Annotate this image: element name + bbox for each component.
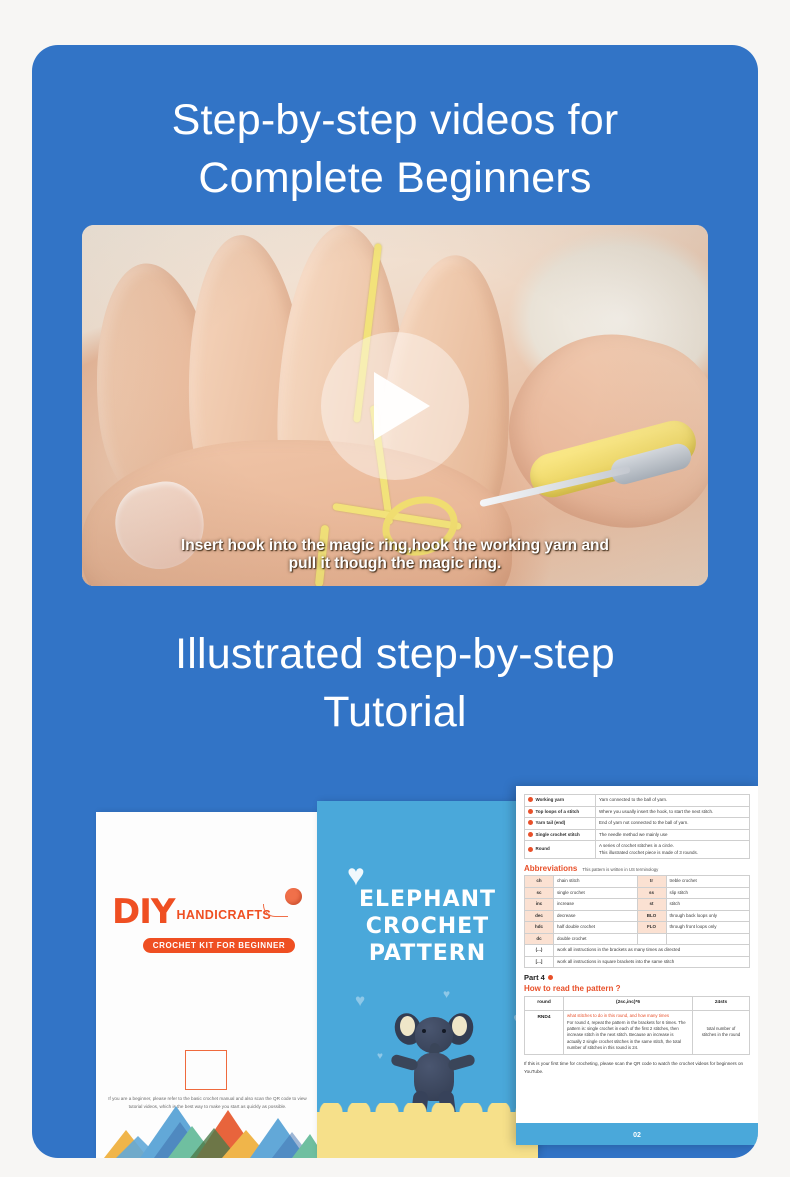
elephant-ear-inner [452,1016,467,1036]
table-row: Round A series of crochet stitches in a … [525,841,750,859]
headline-primary: Step-by-step videos for Complete Beginne… [32,91,758,207]
part-label-row: Part 4 [524,973,750,982]
bullet-dot-icon [528,832,533,837]
pattern-cover-title: ELEPHANT CROCHET PATTERN [317,887,538,967]
elephant-eye [442,1029,446,1033]
booklet-left-page: DIYHANDICRAFTS CROCHET KIT FOR BEGINNER … [96,812,319,1158]
table-row: ch chain stitch tr treble crochet [525,876,750,888]
table-row: (...) work all instructions in the brack… [525,945,750,957]
table-row: Yarn tail (end) End of yarn not connecte… [525,818,750,830]
pattern-example-table: round (2sc,inc)*6 24sts RND4 what stitch… [524,996,750,1055]
play-button-icon[interactable] [321,332,469,480]
bullet-dot-icon [528,820,533,825]
bullet-dot-icon [528,809,533,814]
table-row: Top loops of a stitch Where you usually … [525,806,750,818]
table-row: dec decrease BLO through back loops only [525,910,750,922]
promo-page: Step-by-step videos for Complete Beginne… [0,0,790,1177]
promo-card: Step-by-step videos for Complete Beginne… [32,45,758,1158]
elephant-arm [390,1053,419,1071]
video-player[interactable]: Insert hook into the magic ring,hook the… [82,225,708,586]
triangle-pattern-svg [96,1096,319,1158]
sand-wave-band [317,1112,538,1158]
brand-subtitle: HANDICRAFTS [177,908,272,922]
pattern-explanation-cell: what stitches to do in this round, and h… [564,1011,693,1055]
table-row: Single crochet stitch The needle method … [525,829,750,841]
booklet-photo: DIYHANDICRAFTS CROCHET KIT FOR BEGINNER … [64,773,758,1158]
heart-icon: ♥ [355,991,365,1011]
elephant-arm [447,1053,476,1071]
diy-logo: DIYHANDICRAFTS CROCHET KIT FOR BEGINNER [112,892,304,953]
table-row: RND4 what stitches to do in this round, … [525,1011,750,1055]
play-triangle-icon [374,372,430,440]
how-to-read-title: How to read the pattern ? [524,984,750,993]
table-row: inc increase st stitch [525,899,750,911]
table-row: sc single crochet ss slip stitch [525,887,750,899]
kit-badge: CROCHET KIT FOR BEGINNER [143,938,296,953]
pattern-body-text: For round 4, repeat the pattern in the b… [567,1020,689,1052]
bullet-dot-icon [528,847,533,852]
triangle-pattern-band [96,1096,319,1158]
part-label: Part 4 [524,973,545,982]
abbreviations-table: ch chain stitch tr treble crochet sc sin… [524,875,750,968]
headline-secondary: Illustrated step-by-step Tutorial [32,625,758,741]
page-number: 02 [516,1132,758,1139]
bullet-dot-icon [528,797,533,802]
elephant-eye [422,1029,426,1033]
footer-note: If this is your first time for crochetin… [524,1060,750,1076]
abbreviations-title: Abbreviations [524,864,577,873]
booklet-middle-page: ♥ ELEPHANT CROCHET PATTERN ♥ ♥ ♥ ♥ [317,801,538,1158]
bullet-dot-icon [548,975,553,980]
yarn-ball-icon [285,888,302,905]
abbreviations-note: This pattern is written in US terminolog… [582,867,658,872]
table-row: [...] work all instructions in square br… [525,956,750,968]
brand-name: DIY [112,892,175,932]
terms-table: Working yarn Yarn connected to the ball … [524,794,750,859]
video-caption: Insert hook into the magic ring,hook the… [82,537,708,572]
table-row: dc double crochet [525,933,750,945]
table-row: Working yarn Yarn connected to the ball … [525,795,750,807]
table-row: hdc half double crochet FLO through fron… [525,922,750,934]
heart-icon: ♥ [443,987,450,1001]
abbreviations-header: Abbreviations This pattern is written in… [524,864,750,873]
booklet-right-page: Working yarn Yarn connected to the ball … [516,786,758,1145]
elephant-ear-inner [400,1016,415,1036]
qr-code-placeholder [185,1050,227,1090]
table-header-row: round (2sc,inc)*6 24sts [525,997,750,1011]
heart-icon: ♥ [377,1051,383,1062]
